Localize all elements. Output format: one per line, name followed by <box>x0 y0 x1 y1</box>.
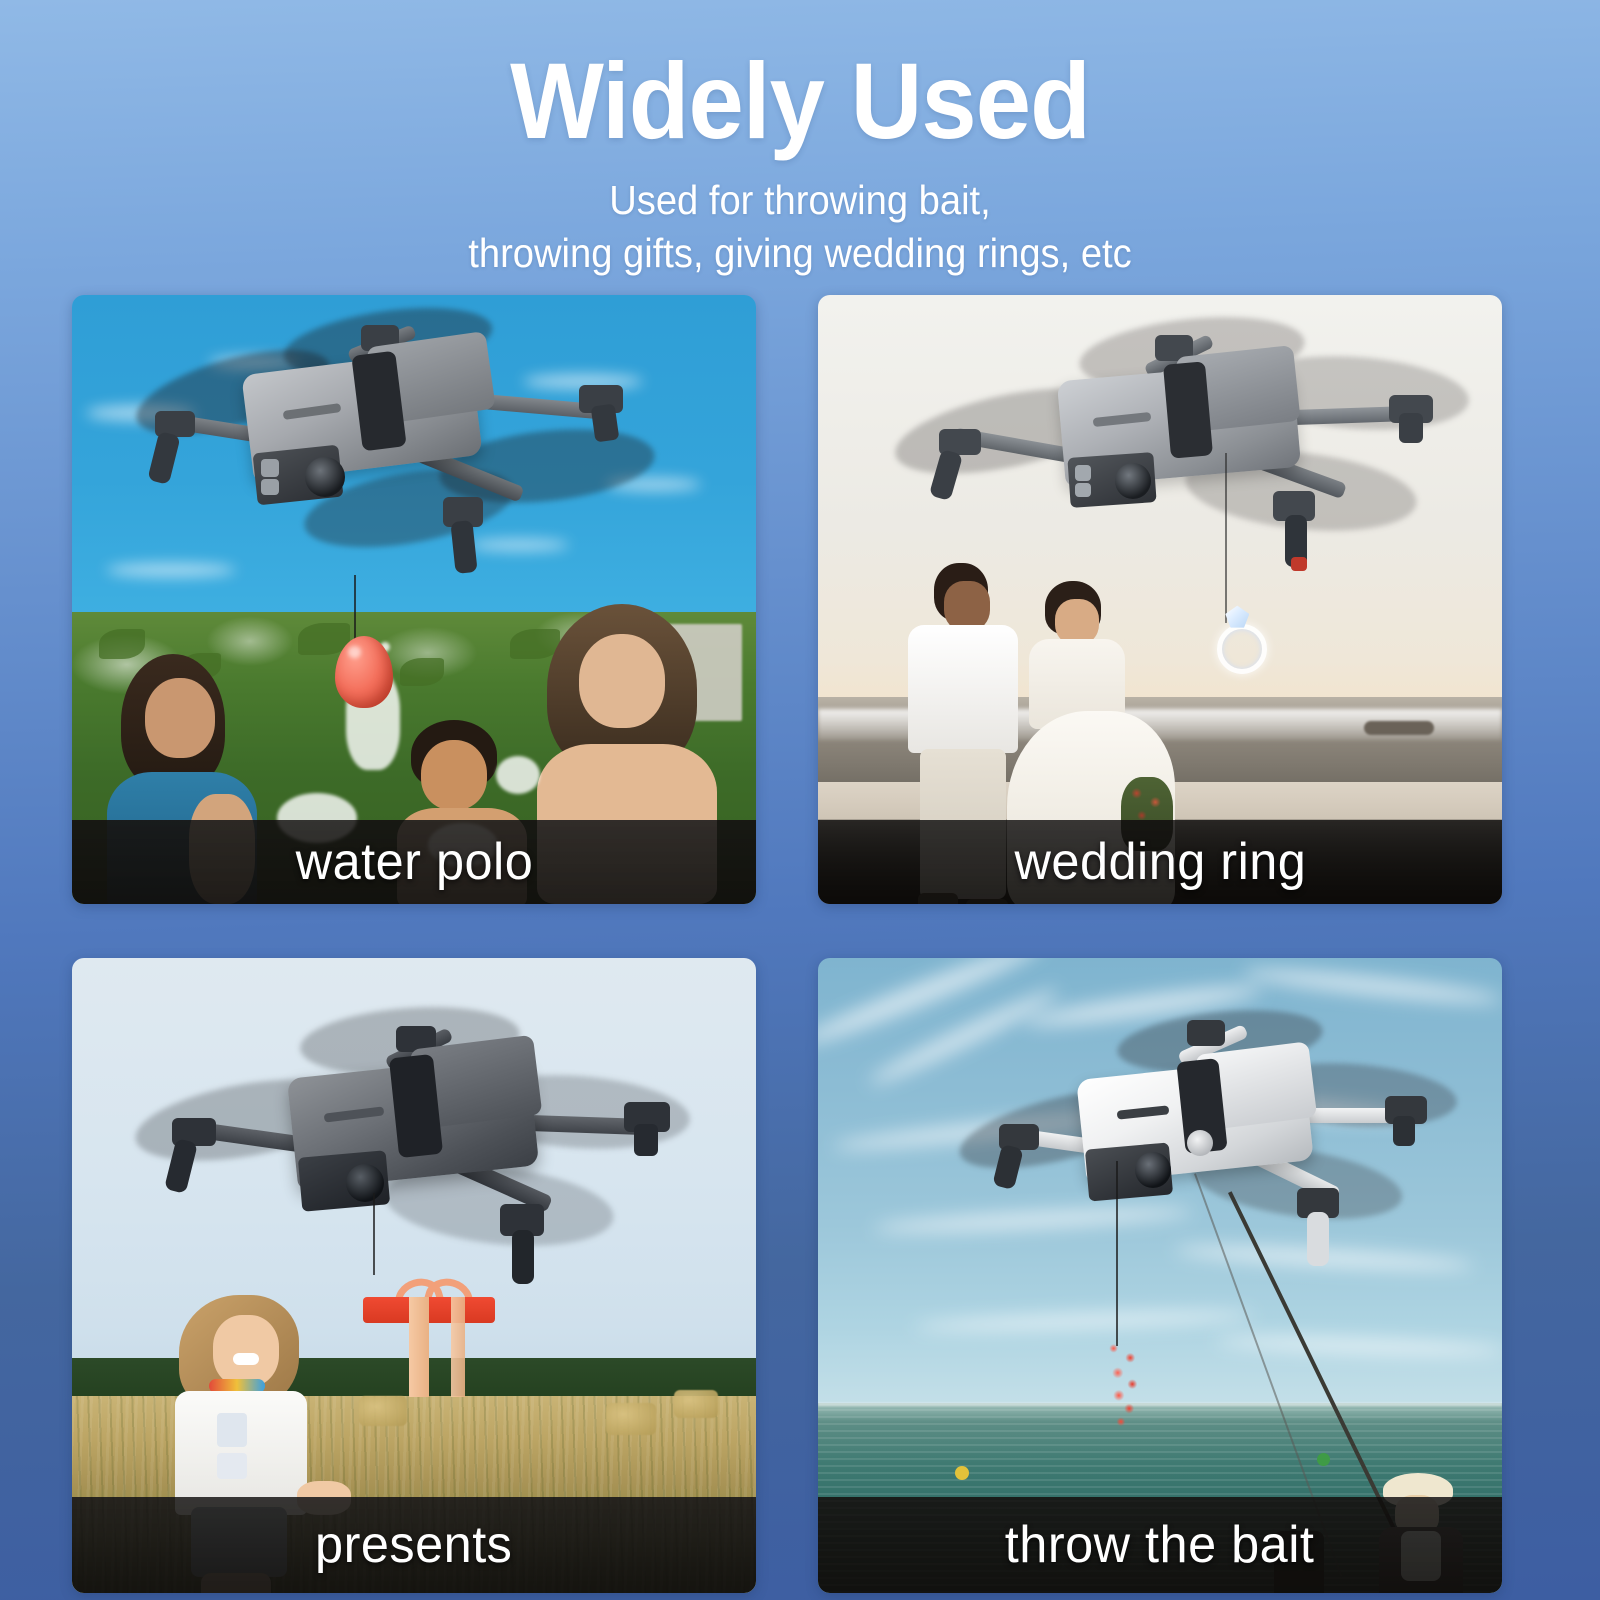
use-case-tile-throw-the-bait[interactable]: throw the bait <box>818 958 1502 1593</box>
gift-body <box>370 1321 488 1397</box>
release-line <box>1116 1161 1118 1346</box>
release-line <box>354 575 356 643</box>
page-header: Widely Used Used for throwing bait, thro… <box>0 0 1600 279</box>
drone-gray <box>893 313 1473 613</box>
use-case-grid: water polo <box>72 295 1528 1565</box>
page-subtitle: Used for throwing bait, throwing gifts, … <box>56 158 1544 279</box>
use-case-tile-presents[interactable]: presents <box>72 958 756 1593</box>
use-case-tile-wedding-ring[interactable]: wedding ring <box>818 295 1502 904</box>
release-line <box>373 1193 375 1275</box>
release-line <box>1225 453 1227 623</box>
tile-caption: throw the bait <box>818 1497 1502 1593</box>
payload-gift-box <box>363 1279 495 1397</box>
gift-lid <box>363 1297 495 1323</box>
drone-white <box>941 990 1461 1310</box>
subtitle-line-1: Used for throwing bait, <box>56 174 1544 226</box>
payload-fishing-bait <box>1098 1339 1150 1433</box>
tile-caption: presents <box>72 1497 756 1593</box>
tile-caption-text: throw the bait <box>1005 1515 1315 1575</box>
tile-caption: wedding ring <box>818 820 1502 904</box>
payload-wedding-ring <box>1211 606 1263 666</box>
drone-dark-gray <box>134 990 704 1320</box>
ribbon-vertical <box>409 1297 429 1397</box>
buoy-yellow <box>955 1466 969 1480</box>
tile-caption-text: water polo <box>295 832 533 892</box>
drone-gray <box>127 307 687 637</box>
photo-water-polo <box>72 295 756 904</box>
ribbon-vertical-second <box>451 1297 465 1397</box>
subtitle-line-2: throwing gifts, giving wedding rings, et… <box>56 227 1544 279</box>
horizon-line <box>818 1403 1502 1406</box>
photo-wedding-ring <box>818 295 1502 904</box>
promo-page: Widely Used Used for throwing bait, thro… <box>0 0 1600 1600</box>
use-case-tile-water-polo[interactable]: water polo <box>72 295 756 904</box>
tile-caption-text: wedding ring <box>1014 832 1306 892</box>
tile-caption-text: presents <box>315 1515 512 1575</box>
page-title: Widely Used <box>64 0 1536 158</box>
tile-caption: water polo <box>72 820 756 904</box>
